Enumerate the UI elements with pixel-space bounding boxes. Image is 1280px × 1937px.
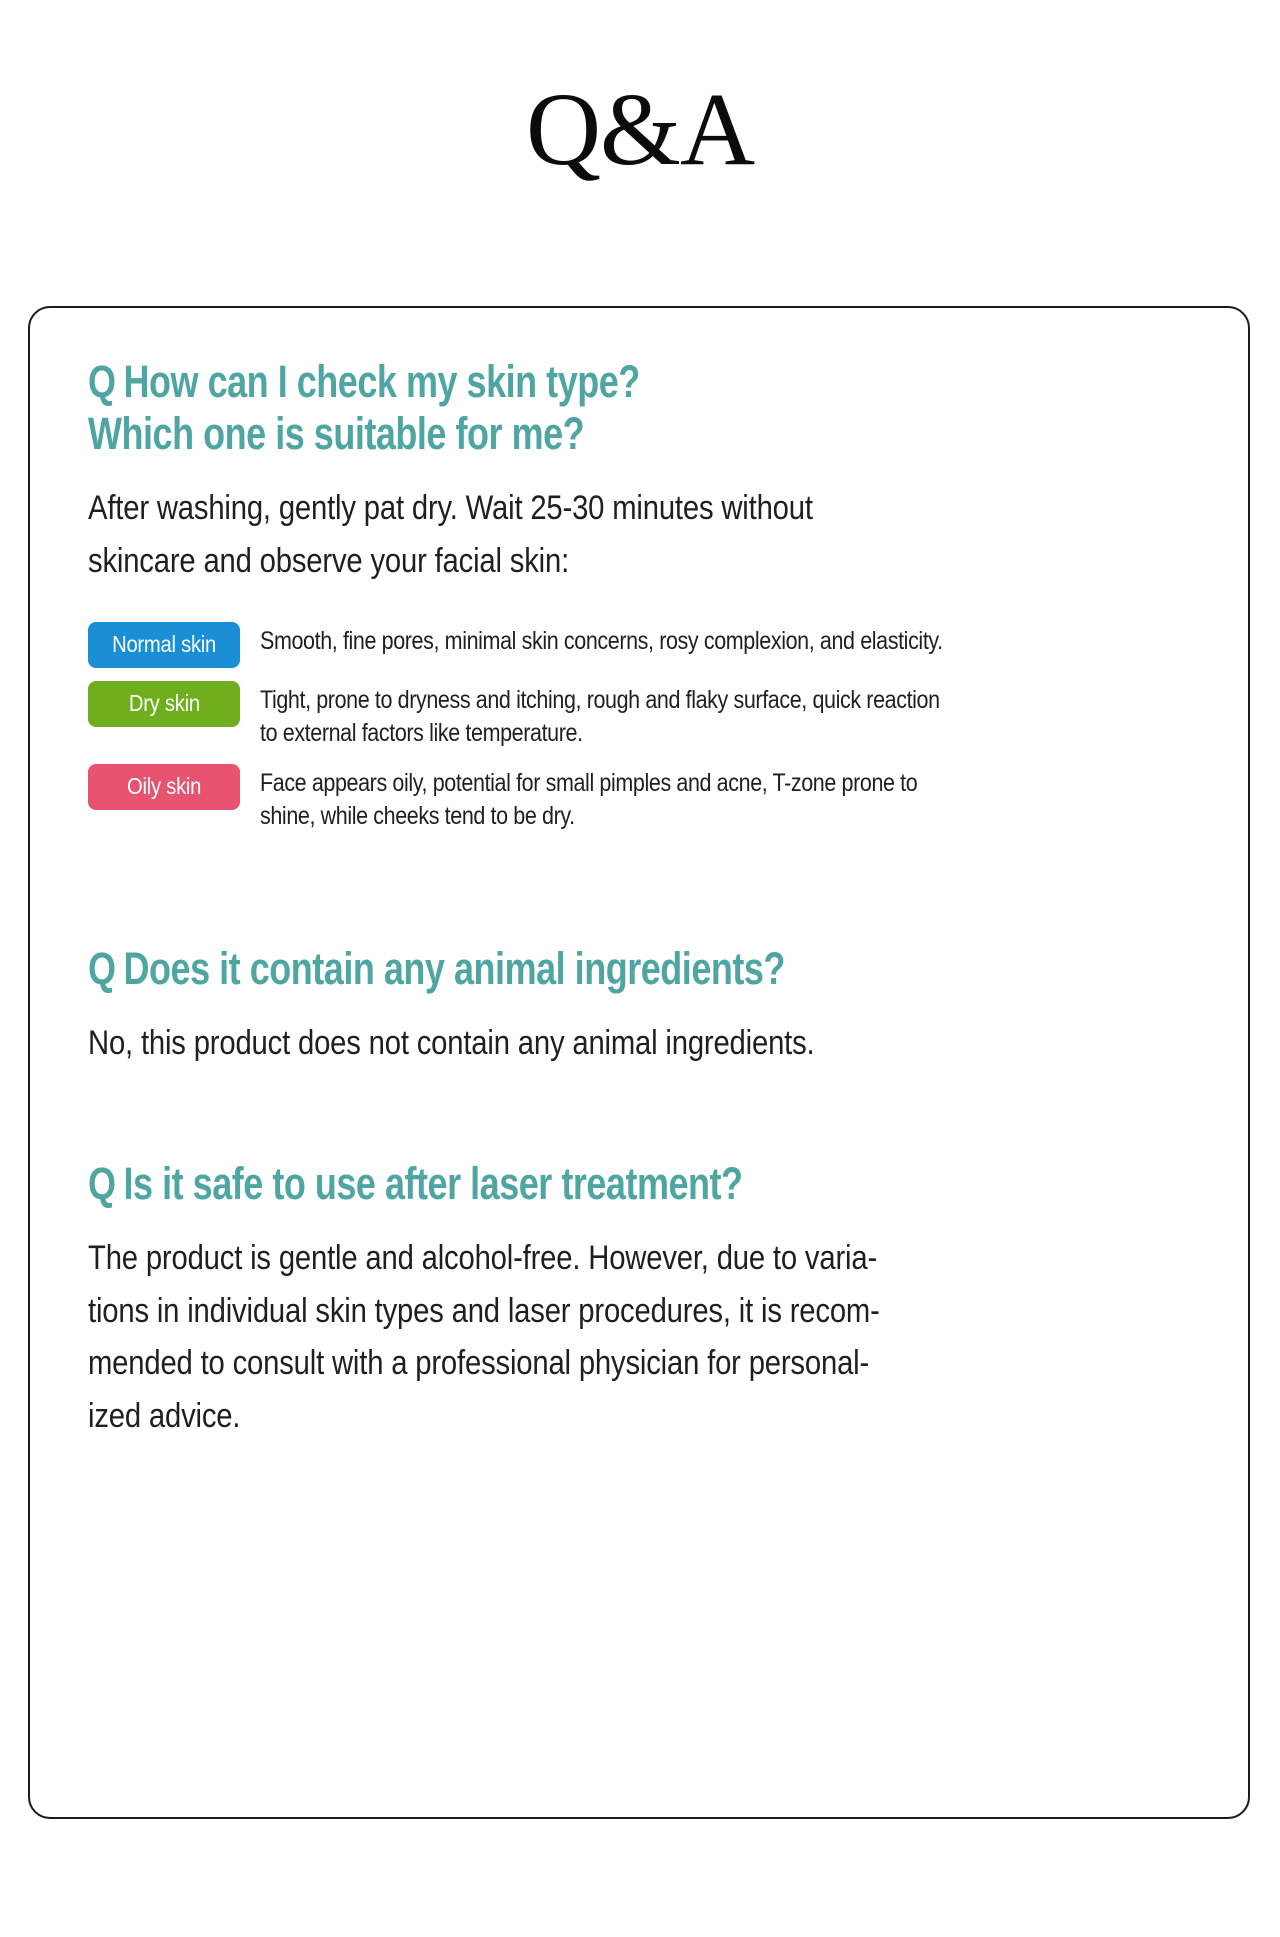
skin-desc-normal-line-1: Smooth, fine pores, minimal skin concern… xyxy=(260,625,1190,659)
skin-type-list: Normal skin Smooth, fine pores, minimal … xyxy=(88,622,1192,834)
skin-type-description-dry: Tight, prone to dryness and itching, rou… xyxy=(240,681,1192,751)
badge-oily-skin: Oily skin xyxy=(88,764,240,810)
question-2-marker: Q xyxy=(88,943,116,994)
skin-type-row-dry: Dry skin Tight, prone to dryness and itc… xyxy=(88,681,1192,751)
answer-3-line-1: The product is gentle and alcohol-free. … xyxy=(88,1232,1189,1285)
skin-type-row-normal: Normal skin Smooth, fine pores, minimal … xyxy=(88,622,1192,668)
skin-type-description-oily: Face appears oily, potential for small p… xyxy=(240,764,1192,834)
question-3-marker: Q xyxy=(88,1158,116,1209)
question-3-line-1: QIs it safe to use after laser treatment… xyxy=(88,1158,1192,1210)
page-header: Q&A xyxy=(0,78,1280,182)
question-1-line-2: Which one is suitable for me? xyxy=(88,408,1192,460)
badge-normal-skin: Normal skin xyxy=(88,622,240,668)
question-2-line-1: QDoes it contain any animal ingredients? xyxy=(88,943,1192,995)
skin-desc-oily-line-2: shine, while cheeks tend to be dry. xyxy=(260,800,1190,834)
badge-dry-skin-label: Dry skin xyxy=(128,692,199,715)
skin-type-row-oily: Oily skin Face appears oily, potential f… xyxy=(88,764,1192,834)
question-1-marker: Q xyxy=(88,356,116,407)
qa-item-3: QIs it safe to use after laser treatment… xyxy=(88,1158,1192,1443)
question-3-text-line-1: Is it safe to use after laser treatment? xyxy=(124,1158,743,1209)
answer-3-line-2: tions in individual skin types and laser… xyxy=(88,1285,1189,1338)
section-spacer-1 xyxy=(88,847,1192,943)
qa-item-1: QHow can I check my skin type? Which one… xyxy=(88,356,1192,834)
section-spacer-2 xyxy=(88,1070,1192,1158)
answer-1-line-1: After washing, gently pat dry. Wait 25-3… xyxy=(88,482,1189,535)
answer-3-line-4: ized advice. xyxy=(88,1390,1189,1443)
skin-desc-oily-line-1: Face appears oily, potential for small p… xyxy=(260,767,1190,801)
qa-page: Q&A QHow can I check my skin type? Which… xyxy=(0,0,1280,1937)
question-1-text-line-2: Which one is suitable for me? xyxy=(88,408,584,459)
answer-3-line-3: mended to consult with a professional ph… xyxy=(88,1337,1189,1390)
question-1-line-1: QHow can I check my skin type? xyxy=(88,356,1192,408)
answer-2-line-1: No, this product does not contain any an… xyxy=(88,1017,1189,1070)
question-2-text-line-1: Does it contain any animal ingredients? xyxy=(124,943,785,994)
question-1-text-line-1: How can I check my skin type? xyxy=(124,356,640,407)
qa-card: QHow can I check my skin type? Which one… xyxy=(28,306,1250,1819)
answer-1-line-2: skincare and observe your facial skin: xyxy=(88,535,1189,588)
skin-desc-dry-line-2: to external factors like temperature. xyxy=(260,717,1190,751)
qa-item-2: QDoes it contain any animal ingredients?… xyxy=(88,943,1192,1070)
skin-desc-dry-line-1: Tight, prone to dryness and itching, rou… xyxy=(260,684,1190,718)
badge-oily-skin-label: Oily skin xyxy=(127,775,201,798)
skin-type-description-normal: Smooth, fine pores, minimal skin concern… xyxy=(240,622,1192,659)
badge-normal-skin-label: Normal skin xyxy=(112,633,216,656)
page-title: Q&A xyxy=(526,78,754,182)
badge-dry-skin: Dry skin xyxy=(88,681,240,727)
